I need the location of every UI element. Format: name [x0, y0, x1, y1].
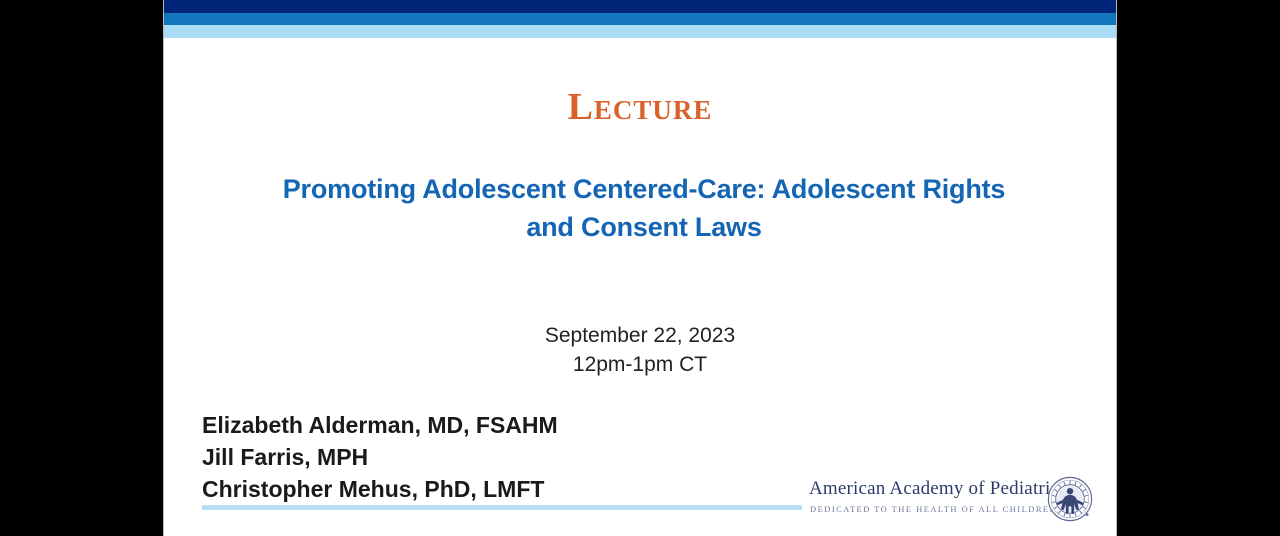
letterbox-left — [0, 0, 163, 536]
aap-wordmark: American Academy of Pediatrics — [809, 478, 1042, 500]
footer-divider-rule — [202, 505, 802, 510]
slide-kicker-lecture: Lecture — [164, 88, 1116, 126]
aap-logo-lockup: American Academy of Pediatrics DEDICATED… — [809, 476, 1099, 528]
aap-tagline: DEDICATED TO THE HEALTH OF ALL CHILDREN® — [810, 504, 1043, 514]
slide-date: September 22, 2023 — [164, 322, 1116, 351]
presenter-name: Christopher Mehus, PhD, LMFT — [202, 474, 558, 506]
slide-time: 12pm-1pm CT — [164, 351, 1116, 380]
presentation-slide: Lecture Promoting Adolescent Centered-Ca… — [163, 0, 1117, 536]
presenter-name: Jill Farris, MPH — [202, 442, 558, 474]
slide-title: Promoting Adolescent Centered-Care: Adol… — [264, 170, 1024, 247]
header-band-navy — [164, 0, 1116, 13]
video-player-frame: Lecture Promoting Adolescent Centered-Ca… — [0, 0, 1280, 536]
header-band-medium-blue — [164, 13, 1116, 25]
letterbox-right — [1117, 0, 1280, 536]
presenter-name: Elizabeth Alderman, MD, FSAHM — [202, 410, 558, 442]
aap-seal-icon — [1047, 476, 1093, 522]
slide-datetime: September 22, 2023 12pm-1pm CT — [164, 322, 1116, 380]
presenter-list: Elizabeth Alderman, MD, FSAHM Jill Farri… — [202, 410, 558, 506]
header-band-light-blue — [164, 25, 1116, 38]
